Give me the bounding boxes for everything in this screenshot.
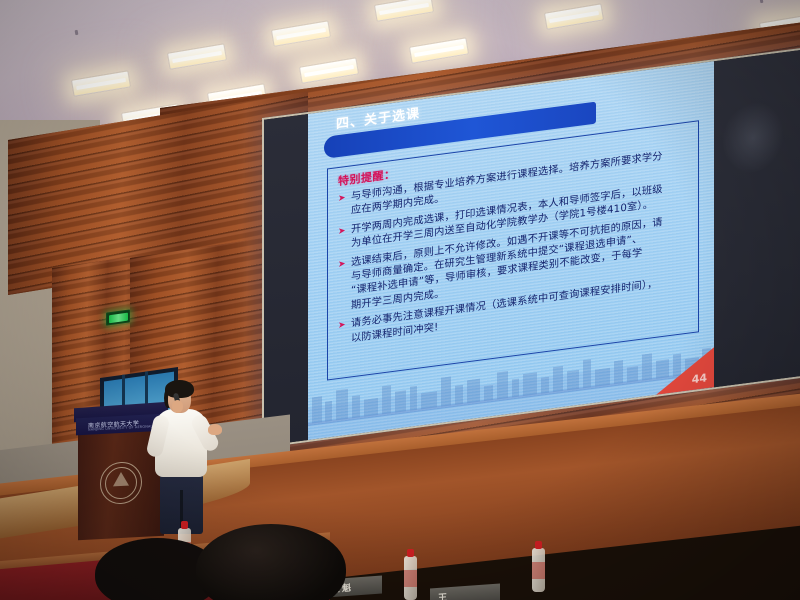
name-placard: 王: [430, 584, 500, 600]
screen-letterbox-left: [264, 114, 308, 446]
ceiling-fixture-dot: [75, 30, 79, 35]
ceiling-fixture-dot: [760, 0, 764, 3]
speaker-left-hand: [172, 400, 183, 413]
seal-emblem-shape: [113, 472, 129, 487]
bullet-marker-icon: ➤: [338, 257, 346, 272]
lecture-hall-photo: 四、关于选课 特别提醒： ➤ 与导师沟通，根据专业培养方案进行课程选择。培养方案…: [0, 0, 800, 600]
screen-letterbox-right: [710, 49, 800, 388]
name-placard-text: 王: [438, 590, 449, 600]
speaker-right-hand: [208, 424, 222, 435]
bullet-marker-icon: ➤: [338, 224, 346, 239]
slide-page-number: 44: [692, 371, 707, 386]
water-bottle: [404, 556, 417, 600]
water-bottle: [532, 548, 545, 592]
bullet-marker-icon: ➤: [338, 191, 346, 206]
presentation-slide: 四、关于选课 特别提醒： ➤ 与导师沟通，根据专业培养方案进行课程选择。培养方案…: [308, 61, 714, 440]
bullet-marker-icon: ➤: [338, 318, 346, 333]
speaker-hair: [165, 380, 194, 398]
projection-screen: 四、关于选课 特别提醒： ➤ 与导师沟通，根据专业培养方案进行课程选择。培养方案…: [262, 47, 800, 448]
